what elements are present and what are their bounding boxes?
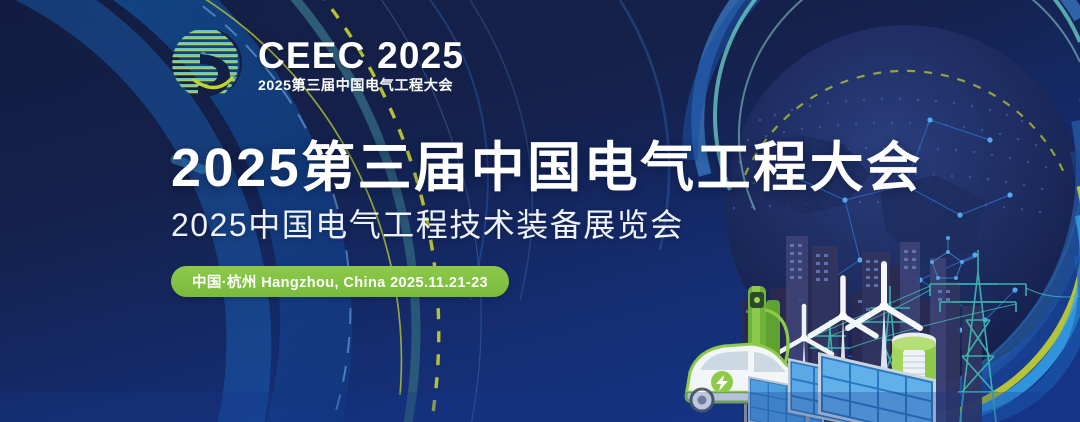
main-title: 2025第三届中国电气工程大会: [171, 140, 961, 197]
sub-title: 2025中国电气工程技术装备展览会: [171, 208, 961, 243]
headline-block: 2025第三届中国电气工程大会 2025中国电气工程技术装备展览会 中国·杭州 …: [171, 140, 961, 297]
event-banner: CEEC 2025 2025第三届中国电气工程大会 2025第三届中国电气工程大…: [0, 0, 1080, 422]
logo-subtitle: 2025第三届中国电气工程大会: [258, 79, 464, 93]
logo-lockup: CEEC 2025 2025第三届中国电气工程大会: [170, 24, 464, 102]
logo-title: CEEC 2025: [258, 37, 464, 75]
venue-date-badge: 中国·杭州 Hangzhou, China 2025.11.21-23: [171, 266, 509, 297]
logo-text-block: CEEC 2025 2025第三届中国电气工程大会: [258, 33, 464, 94]
ceec-globe-stripes-logo-icon: [170, 24, 244, 102]
